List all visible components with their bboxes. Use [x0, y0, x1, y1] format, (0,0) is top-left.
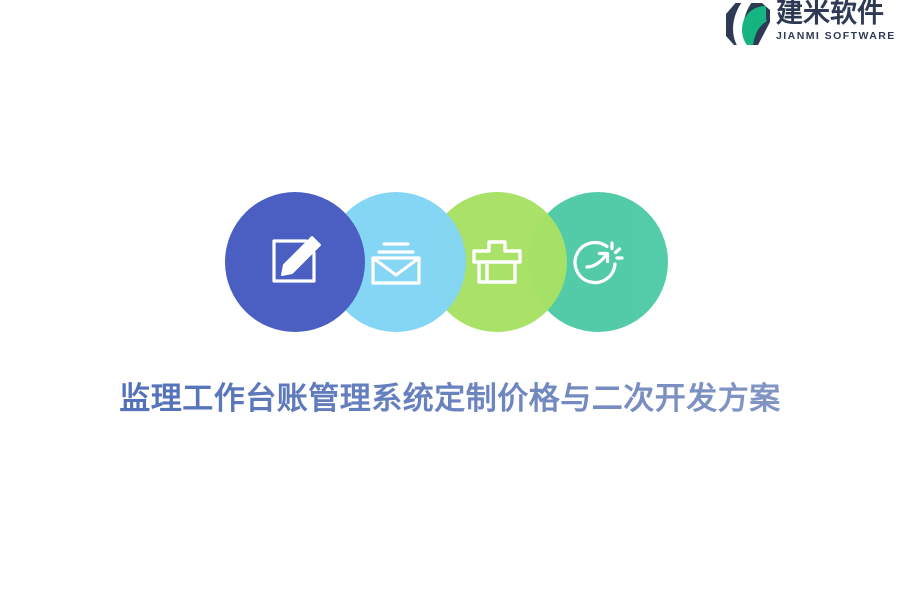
store-building-icon: [470, 237, 524, 287]
brand-name-en: JIANMI SOFTWARE: [776, 30, 896, 43]
edit-pencil-square-icon: [268, 235, 322, 289]
brand-name-cn: 建米软件: [776, 0, 896, 28]
circle-edit-icon-wrap: [225, 192, 365, 332]
growth-arrow-circle-icon: [571, 235, 625, 289]
brand-logo[interactable]: 建米软件 JIANMI SOFTWARE: [722, 0, 900, 50]
circle-edit[interactable]: [225, 192, 365, 332]
page-root: 建米软件 JIANMI SOFTWARE: [0, 0, 900, 600]
feature-circle-cluster: [225, 192, 668, 332]
envelope-mail-icon: [368, 237, 424, 287]
page-title: 监理工作台账管理系统定制价格与二次开发方案: [0, 374, 900, 424]
brand-text-block: 建米软件 JIANMI SOFTWARE: [776, 0, 896, 43]
jianmi-hexagon-leaf-logo-icon: [722, 0, 774, 48]
